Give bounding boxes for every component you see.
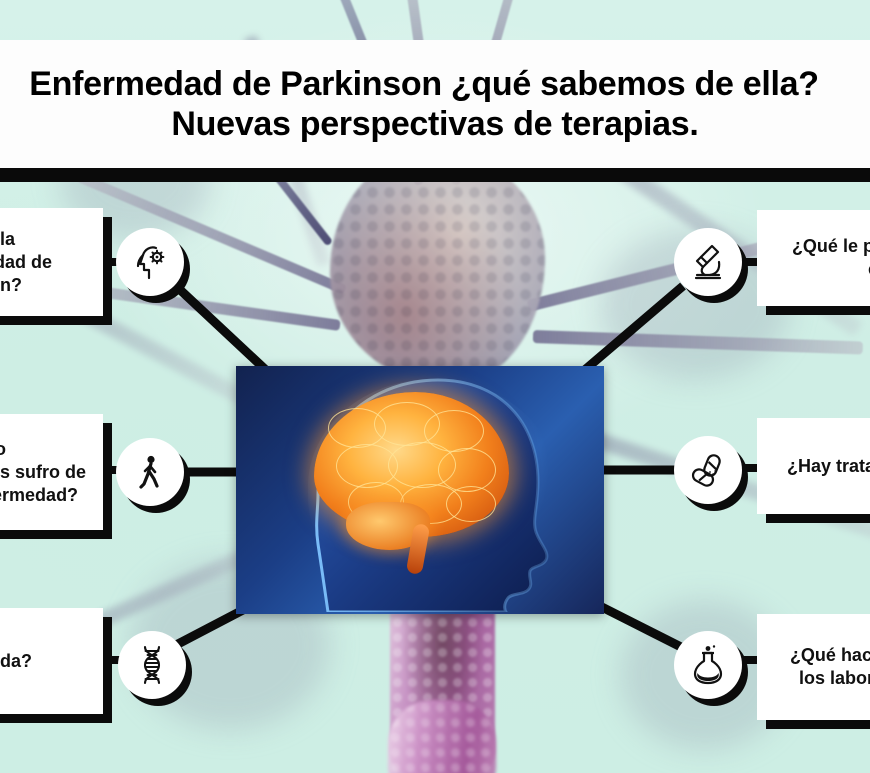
pill-capsule-icon	[688, 450, 728, 490]
card-laboratorios-text: ¿Qué hacemos en los laboratorios?	[769, 644, 870, 690]
node-disc	[116, 228, 184, 296]
node-disc	[674, 228, 742, 296]
walking-person-icon	[131, 453, 169, 491]
icon-node-hereda[interactable]	[118, 631, 186, 699]
connector-line-que-es	[176, 286, 268, 372]
icon-node-laboratorios[interactable]	[674, 631, 742, 699]
card-cerebro[interactable]: ¿Qué le pasa a mi cerebro?	[757, 210, 870, 306]
head-profile	[288, 374, 578, 612]
icon-node-tratamiento[interactable]	[674, 436, 742, 504]
microscope-icon	[687, 241, 729, 283]
title-line-2: Nuevas perspectivas de terapias.	[171, 104, 698, 144]
connector-line-cerebro	[580, 286, 683, 374]
dna-helix-icon	[133, 644, 171, 686]
card-temblores-text: ¿Si tengo temblores sufro de esta enferm…	[0, 438, 91, 507]
card-hereda[interactable]: ¿Se hereda?	[0, 608, 103, 714]
card-temblores[interactable]: ¿Si tengo temblores sufro de esta enferm…	[0, 414, 103, 530]
icon-node-temblores[interactable]	[116, 438, 184, 506]
node-disc	[674, 631, 742, 699]
card-hereda-text: ¿Se hereda?	[0, 650, 91, 673]
icon-node-que-es[interactable]	[116, 228, 184, 296]
node-disc	[674, 436, 742, 504]
brain-head-image	[236, 366, 604, 614]
node-disc	[116, 438, 184, 506]
card-laboratorios[interactable]: ¿Qué hacemos en los laboratorios?	[757, 614, 870, 720]
card-tratamiento[interactable]: ¿Hay tratamiento?	[757, 418, 870, 514]
title-line-1: Enfermedad de Parkinson ¿qué sabemos de …	[29, 64, 819, 104]
title-banner: Enfermedad de Parkinson ¿qué sabemos de …	[0, 40, 870, 168]
card-que-es[interactable]: ¿Qué es la enfermedad de Parkinson?	[0, 208, 103, 316]
flask-icon	[689, 644, 727, 686]
card-cerebro-text: ¿Qué le pasa a mi cerebro?	[769, 235, 870, 281]
card-que-es-text: ¿Qué es la enfermedad de Parkinson?	[0, 228, 91, 297]
icon-node-cerebro[interactable]	[674, 228, 742, 296]
head-gear-icon	[130, 242, 170, 282]
title-divider-bar	[0, 168, 870, 182]
card-tratamiento-text: ¿Hay tratamiento?	[769, 455, 870, 478]
node-disc	[118, 631, 186, 699]
